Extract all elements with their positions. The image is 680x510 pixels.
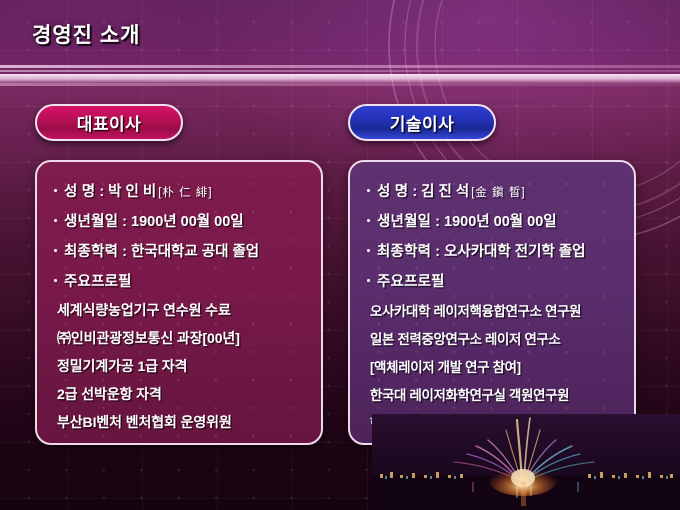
field-education-value: 오사카대학 전기학 졸업 bbox=[444, 240, 585, 261]
list-item: 2급 선박운항 자격 bbox=[57, 384, 307, 404]
field-profile-heading: 주요프로필 bbox=[364, 270, 620, 291]
field-name-label: 성 명 bbox=[377, 180, 408, 201]
profile-list-cto: 오사카대학 레이저핵융합연구소 연구원 일본 전력중앙연구소 레이저 연구소 [… bbox=[364, 300, 620, 432]
profile-heading-label: 주요프로필 bbox=[377, 270, 445, 291]
bullet-icon bbox=[367, 249, 370, 252]
list-item: 부산BI벤처 벤처협회 운영위원 bbox=[57, 412, 307, 432]
field-name: 성 명 : 박 인 비 [朴 仁 緋] bbox=[51, 180, 307, 201]
list-item: 세계식량농업기구 연수원 수료 bbox=[57, 300, 307, 320]
fountain-photo bbox=[372, 414, 680, 510]
field-birthdate-value: 1900년 00월 00일 bbox=[444, 210, 557, 231]
bullet-icon bbox=[54, 279, 57, 282]
tab-cto[interactable]: 기술이사 bbox=[348, 104, 496, 141]
field-education: 최종학력 : 한국대학교 공대 졸업 bbox=[51, 240, 307, 261]
field-education: 최종학력 : 오사카대학 전기학 졸업 bbox=[364, 240, 620, 261]
field-birthdate: 생년월일 : 1900년 00월 00일 bbox=[51, 210, 307, 231]
field-birthdate-value: 1900년 00월 00일 bbox=[131, 210, 244, 231]
field-education-label: 최종학력 bbox=[377, 240, 431, 261]
field-education-value: 한국대학교 공대 졸업 bbox=[131, 240, 259, 261]
profile-heading-label: 주요프로필 bbox=[64, 270, 132, 291]
field-name-label: 성 명 bbox=[64, 180, 95, 201]
list-item: [액체레이저 개발 연구 참여] bbox=[370, 356, 620, 376]
field-birthdate-separator: : bbox=[435, 214, 440, 230]
list-item: 한국대 레이저화학연구실 객원연구원 bbox=[370, 384, 620, 404]
list-item: 일본 전력중앙연구소 레이저 연구소 bbox=[370, 328, 620, 348]
profile-list-ceo: 세계식량농업기구 연수원 수료 ㈜인비관광정보통신 과장[00년] 정밀기계가공… bbox=[51, 300, 307, 432]
field-birthdate: 생년월일 : 1900년 00월 00일 bbox=[364, 210, 620, 231]
panel-cto: 성 명 : 김 진 석 [金 鎭 晳] 생년월일 : 1900년 00월 00일… bbox=[348, 160, 636, 445]
bullet-icon bbox=[54, 189, 57, 192]
bullet-icon bbox=[367, 189, 370, 192]
list-item: ㈜인비관광정보통신 과장[00년] bbox=[57, 328, 307, 348]
field-name-value: 김 진 석 bbox=[421, 180, 469, 201]
slide-canvas: 경영진 소개 대표이사 기술이사 성 명 : 박 인 비 [朴 仁 緋] 생년월… bbox=[0, 0, 680, 510]
field-name-separator: : bbox=[412, 184, 417, 200]
tab-cto-label: 기술이사 bbox=[390, 110, 455, 135]
field-education-label: 최종학력 bbox=[64, 240, 118, 261]
field-education-separator: : bbox=[435, 244, 440, 260]
field-birthdate-label: 생년월일 bbox=[377, 210, 431, 231]
page-title: 경영진 소개 bbox=[32, 19, 140, 49]
bullet-icon bbox=[367, 219, 370, 222]
field-name-separator: : bbox=[99, 184, 104, 200]
panel-ceo: 성 명 : 박 인 비 [朴 仁 緋] 생년월일 : 1900년 00월 00일… bbox=[35, 160, 323, 445]
bullet-icon bbox=[54, 249, 57, 252]
field-name: 성 명 : 김 진 석 [金 鎭 晳] bbox=[364, 180, 620, 201]
field-name-hanja: [金 鎭 晳] bbox=[471, 184, 525, 200]
bullet-icon bbox=[367, 279, 370, 282]
field-education-separator: : bbox=[122, 244, 127, 260]
tab-ceo-label: 대표이사 bbox=[77, 110, 142, 135]
field-birthdate-separator: : bbox=[122, 214, 127, 230]
field-birthdate-label: 생년월일 bbox=[64, 210, 118, 231]
field-name-value: 박 인 비 bbox=[108, 180, 156, 201]
list-item: 정밀기계가공 1급 자격 bbox=[57, 356, 307, 376]
list-item: 오사카대학 레이저핵융합연구소 연구원 bbox=[370, 300, 620, 320]
bullet-icon bbox=[54, 219, 57, 222]
field-name-hanja: [朴 仁 緋] bbox=[158, 184, 212, 200]
header-light-band bbox=[0, 62, 680, 92]
field-profile-heading: 주요프로필 bbox=[51, 270, 307, 291]
tab-ceo[interactable]: 대표이사 bbox=[35, 104, 183, 141]
